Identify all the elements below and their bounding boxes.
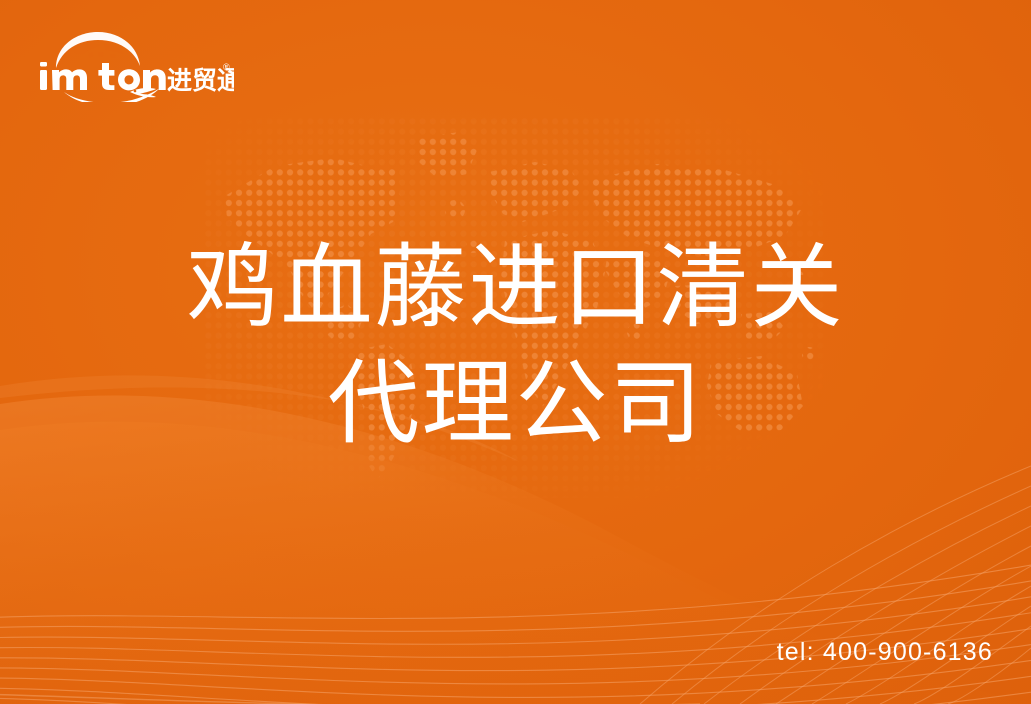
contact-telephone: tel: 400-900-6136	[777, 638, 993, 667]
headline-line-2: 代理公司	[0, 348, 1031, 460]
headline-line-1: 鸡血藤进口清关	[0, 232, 1031, 344]
trademark-icon: ®	[223, 62, 230, 72]
headline: 鸡血藤进口清关 代理公司	[0, 232, 1031, 460]
brand-logo[interactable]: 进贸通 ®	[34, 26, 234, 102]
dolphin-swoosh-icon	[64, 88, 160, 102]
promo-banner: 进贸通 ® 鸡血藤进口清关 代理公司 tel: 400-900-6136	[0, 0, 1031, 704]
wordmark-imton	[40, 62, 166, 90]
globe-icon	[56, 32, 140, 68]
